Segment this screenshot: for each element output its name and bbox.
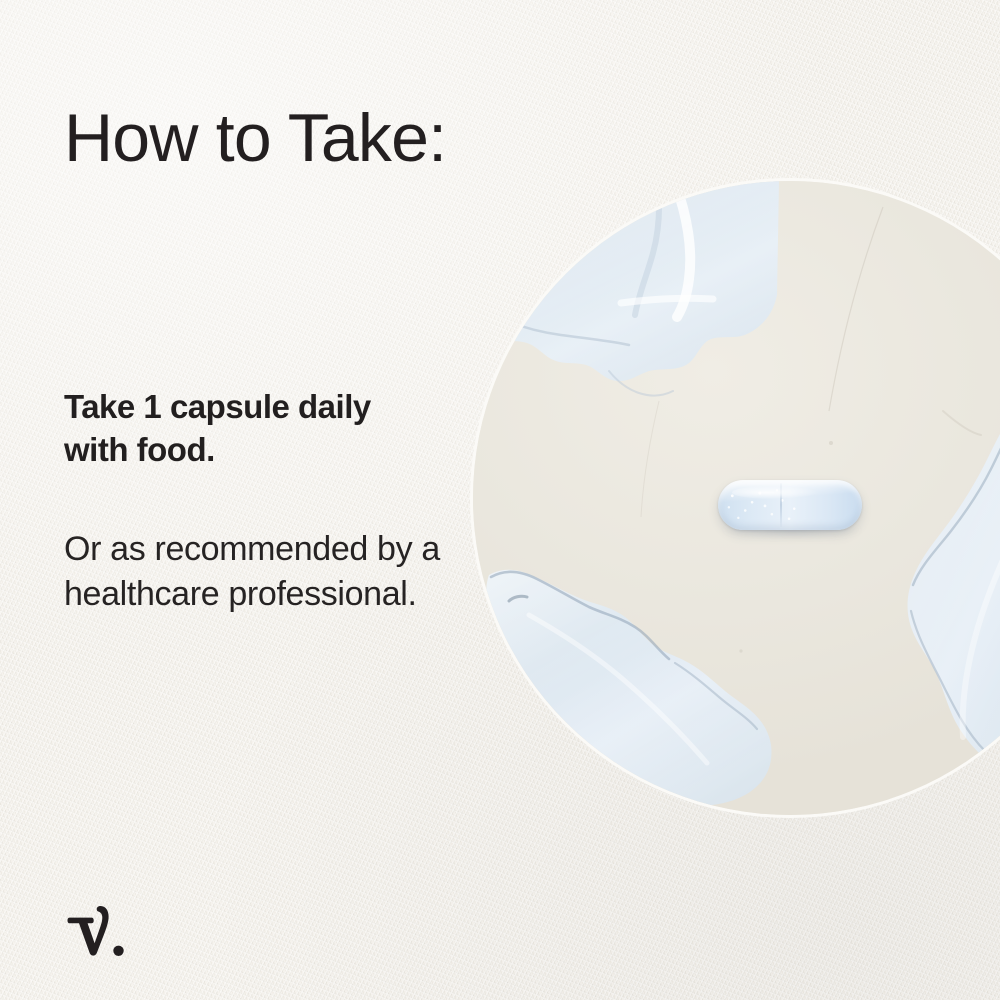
dosage-instruction: Take 1 capsule daily with food. [64,386,394,472]
product-photo-circle [473,181,1000,815]
brand-v-icon [64,903,134,959]
marketing-card: How to Take: Take 1 capsule daily with f… [0,0,1000,1000]
brand-logo [64,903,134,959]
capsule-highlight [732,486,818,499]
top-left-gel-swatch [473,181,781,425]
right-gel-swatch [877,397,1000,797]
page-title: How to Take: [64,104,446,172]
capsule [718,480,862,530]
bottom-left-gel-swatch [473,557,799,815]
dosage-disclaimer: Or as recommended by a healthcare profes… [64,527,442,617]
text-column: How to Take: Take 1 capsule daily with f… [64,0,464,1000]
